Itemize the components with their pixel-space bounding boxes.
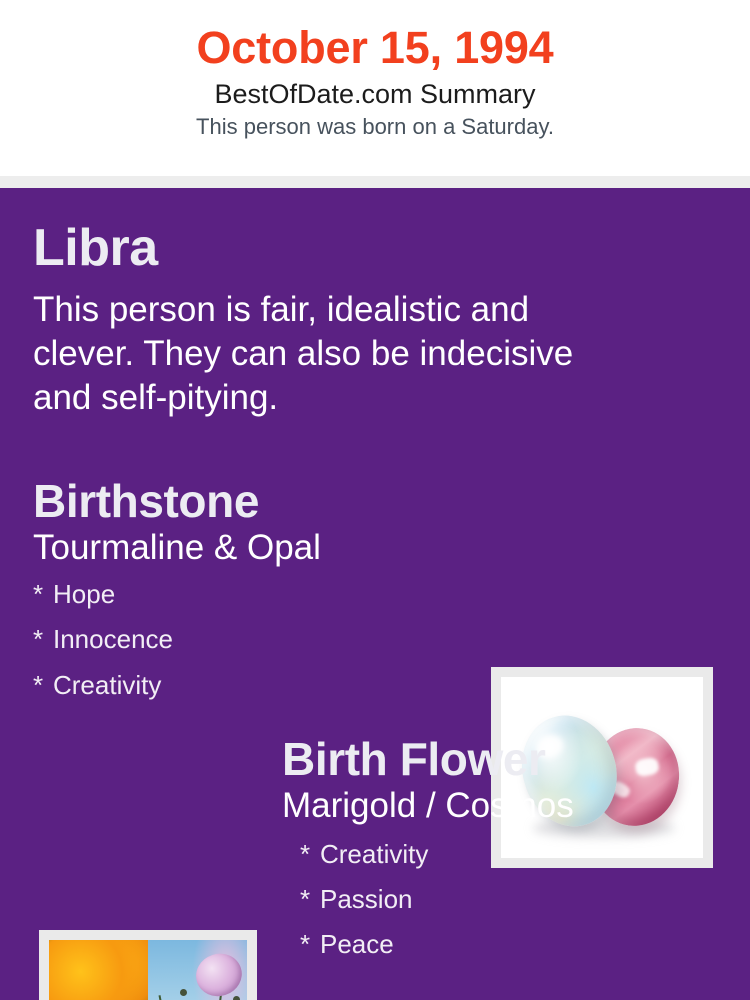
header: October 15, 1994 BestOfDate.com Summary …: [0, 0, 750, 176]
bullet-icon: *: [300, 922, 320, 967]
birthflower-photo-frame: [39, 930, 257, 1000]
birthstone-trait-label: Hope: [53, 579, 115, 609]
bullet-icon: *: [300, 877, 320, 922]
birthflower-trait-label: Peace: [320, 929, 394, 959]
list-item: *Hope: [33, 572, 473, 617]
flower-bud-icon: [233, 996, 240, 1000]
bullet-icon: *: [33, 617, 53, 662]
day-of-week-note: This person was born on a Saturday.: [0, 110, 750, 139]
page-title-date: October 15, 1994: [0, 0, 750, 73]
list-item: *Creativity: [33, 663, 473, 708]
birthstone-trait-label: Innocence: [53, 624, 173, 654]
list-item: *Peace: [300, 922, 742, 967]
bullet-icon: *: [33, 663, 53, 708]
birthstone-title: Birthstone: [33, 478, 473, 524]
zodiac-description: This person is fair, idealistic and clev…: [33, 274, 613, 420]
cosmos-blossom-icon: [190, 948, 246, 1000]
header-divider: [0, 176, 750, 188]
birthstone-section: Birthstone Tourmaline & Opal *Hope *Inno…: [33, 478, 473, 708]
cosmos-photo-half: [148, 940, 247, 1000]
content-panel: Libra This person is fair, idealistic an…: [0, 188, 750, 1000]
flower-bud-icon: [180, 989, 187, 996]
birthflower-names: Marigold / Cosmos: [282, 782, 742, 824]
birthstone-trait-list: *Hope *Innocence *Creativity: [33, 566, 473, 708]
birthflower-trait-label: Creativity: [320, 839, 428, 869]
summary-card: October 15, 1994 BestOfDate.com Summary …: [0, 0, 750, 1000]
site-name: BestOfDate.com Summary: [0, 73, 750, 110]
list-item: *Innocence: [33, 617, 473, 662]
flower-split-scene: [49, 940, 247, 1000]
birthstone-trait-label: Creativity: [53, 670, 161, 700]
zodiac-sign-name: Libra: [33, 222, 653, 274]
list-item: *Creativity: [300, 832, 742, 877]
list-item: *Passion: [300, 877, 742, 922]
marigold-photo-half: [49, 940, 148, 1000]
birthflower-photo: [49, 940, 247, 1000]
stem-line: [158, 995, 183, 1000]
birthflower-title: Birth Flower: [282, 736, 742, 782]
birthflower-trait-label: Passion: [320, 884, 413, 914]
bullet-icon: *: [300, 832, 320, 877]
bullet-icon: *: [33, 572, 53, 617]
birthstone-names: Tourmaline & Opal: [33, 524, 473, 566]
birthflower-trait-list: *Creativity *Passion *Peace: [282, 824, 742, 966]
zodiac-section: Libra This person is fair, idealistic an…: [33, 222, 653, 420]
birthflower-section: Birth Flower Marigold / Cosmos *Creativi…: [282, 736, 742, 966]
